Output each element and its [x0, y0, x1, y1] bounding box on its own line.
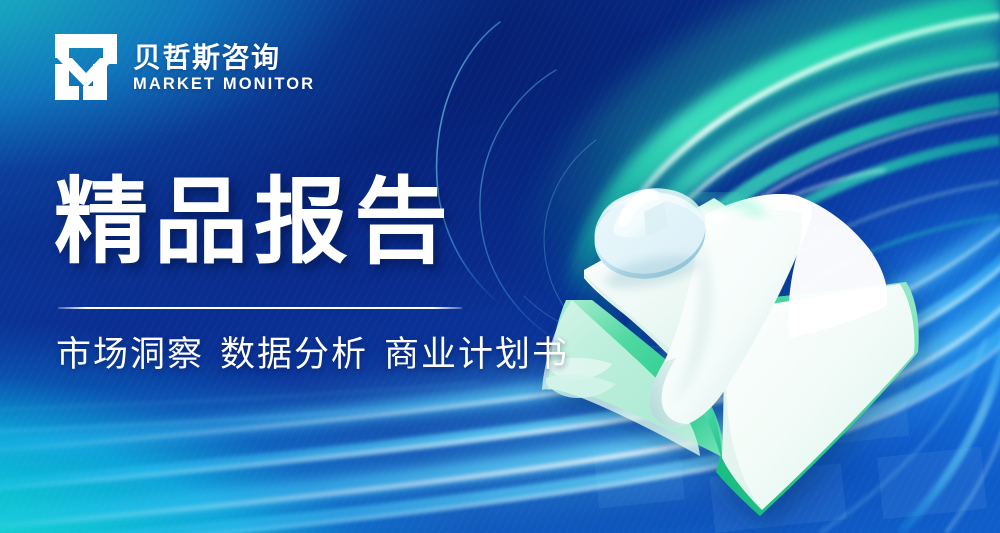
subtitle-item-2: 数据分析 [220, 335, 368, 374]
report-cover-banner: 贝哲斯咨询 MARKET MONITOR 精品报告 市场洞察数据分析商业计划书 [0, 0, 1000, 533]
brand-name-cn: 贝哲斯咨询 [133, 43, 315, 73]
m-bracket-logo-icon [55, 34, 117, 100]
brand-text-group: 贝哲斯咨询 MARKET MONITOR [133, 41, 315, 93]
title-divider-rule [58, 307, 462, 309]
brand-name-en: MARKET MONITOR [133, 75, 315, 93]
page-title: 精品报告 [54, 175, 454, 269]
brand-logo: 贝哲斯咨询 MARKET MONITOR [55, 34, 315, 100]
subtitle-item-3: 商业计划书 [384, 335, 569, 374]
subtitle-keywords: 市场洞察数据分析商业计划书 [56, 333, 569, 377]
subtitle-item-1: 市场洞察 [56, 335, 204, 374]
